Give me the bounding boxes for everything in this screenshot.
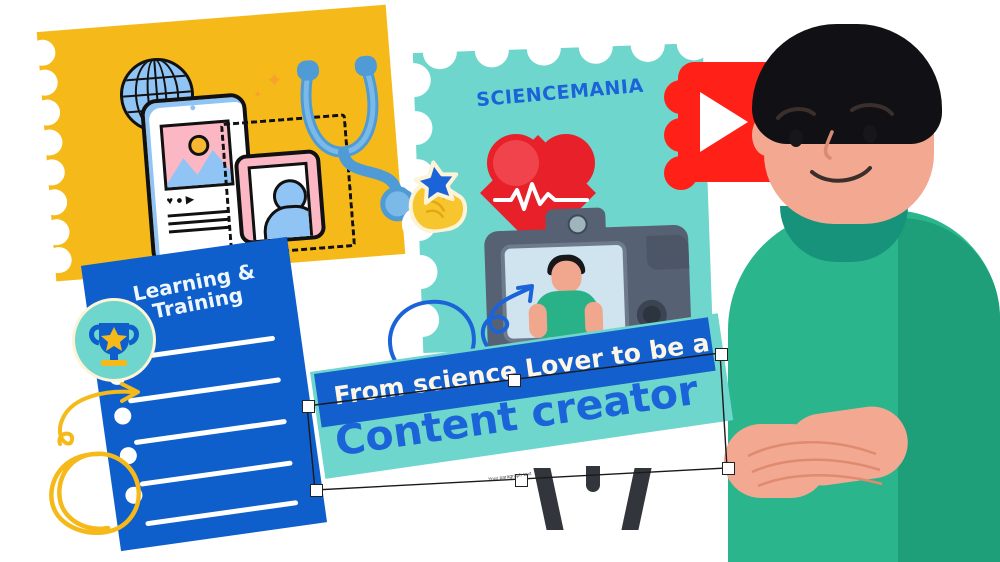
hands-lines [724, 414, 924, 510]
resize-handle-bottom-right[interactable] [722, 462, 735, 475]
resize-handle-top-left[interactable] [302, 400, 315, 413]
headline-banner-group[interactable]: From science Lover to be a Content creat… [300, 344, 730, 492]
phone-camera-dot [190, 105, 195, 110]
hand-holding-star-sticker [399, 155, 478, 236]
poster-canvas: ♥●▶ ✦ ✦ SCIENCEMANIA [0, 0, 1000, 562]
selection-bounding-box [300, 344, 730, 492]
curved-arrow-doodle [30, 382, 150, 452]
heartbeat-heart-icon [487, 118, 603, 222]
sparkle-icon: ✦ [266, 68, 283, 93]
facial-features [760, 70, 940, 190]
scribble-circle-doodle [44, 444, 154, 540]
phone-reaction-icons: ♥●▶ [166, 192, 198, 207]
resize-handle-top-mid[interactable] [508, 374, 521, 387]
torn-edge [28, 39, 72, 274]
trophy-star-badge[interactable] [72, 298, 156, 382]
sparkle-icon: ✦ [253, 88, 262, 101]
resize-handle-bottom-left[interactable] [310, 484, 323, 497]
resize-handle-top-right[interactable] [715, 348, 728, 361]
young-man-illustration[interactable] [700, 10, 1000, 562]
